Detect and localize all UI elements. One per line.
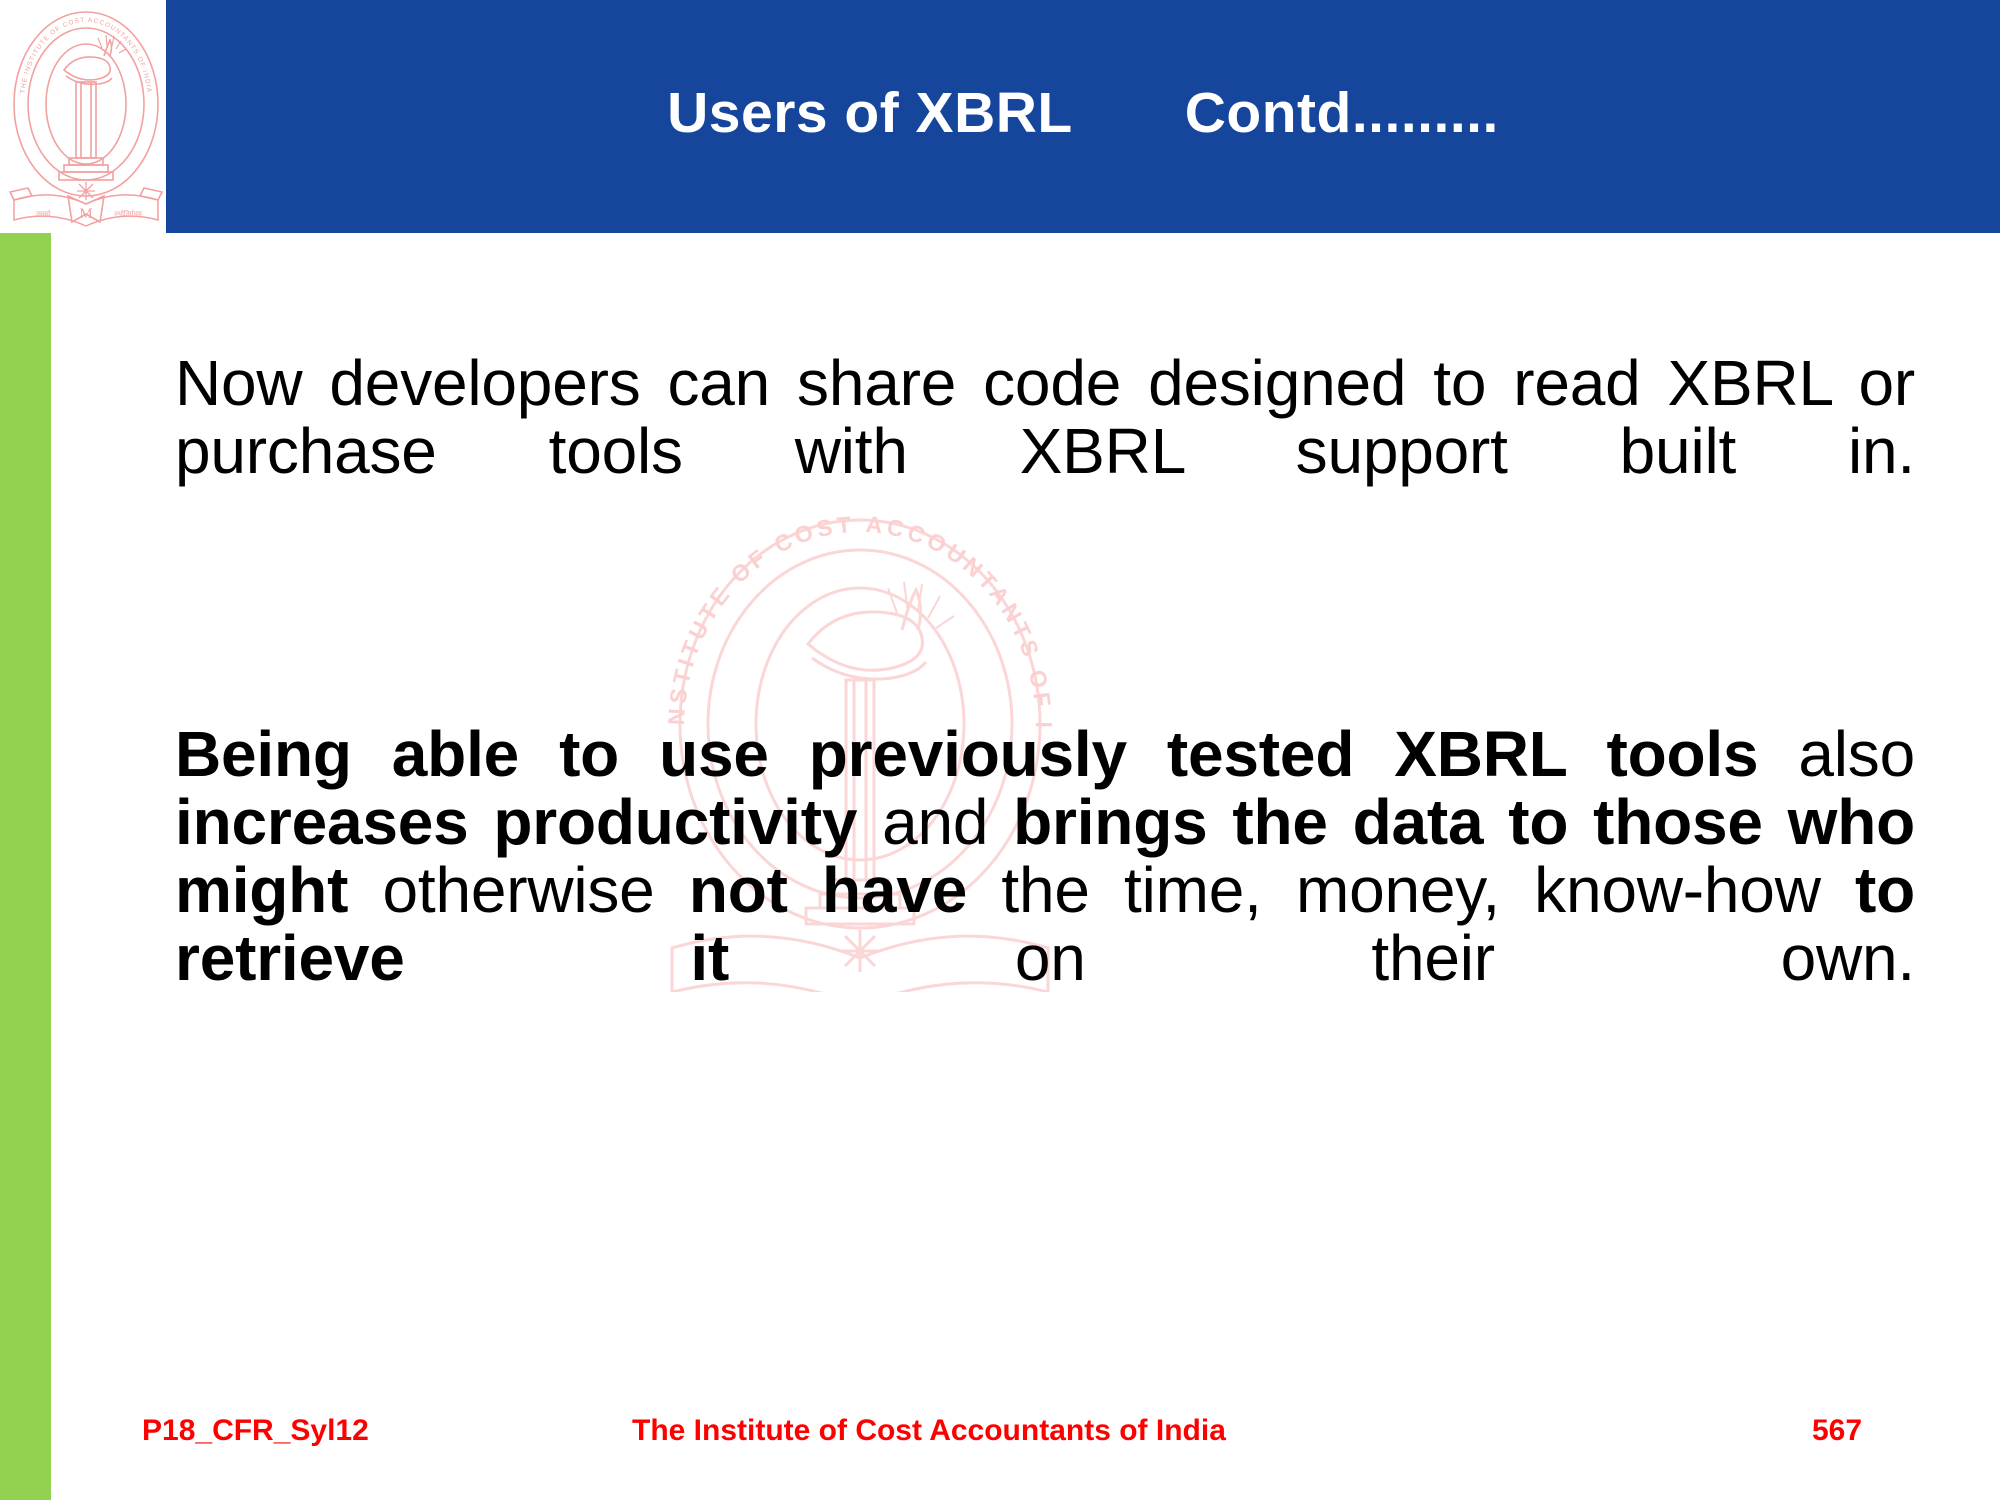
body-run-2: increases productivity (175, 786, 882, 858)
svg-text:M: M (79, 206, 92, 222)
svg-text:ज्योतिर्गमय: ज्योतिर्गमय (114, 209, 143, 218)
slide-header-bar: Users of XBRL Contd......... (166, 0, 2000, 233)
footer-institute-name: The Institute of Cost Accountants of Ind… (632, 1414, 1226, 1448)
institute-emblem-icon: M THE INSTITUTE OF COST ACCOUNTANTS OF I… (6, 4, 166, 232)
left-accent-bar (0, 233, 51, 1500)
footer-page-number: 567 (1812, 1414, 1862, 1448)
slide-body: Now developers can share code designed t… (175, 350, 1915, 1100)
slide-footer: P18_CFR_Syl12 The Institute of Cost Acco… (0, 1400, 2000, 1462)
body-run-9: on their own. (1015, 922, 1915, 994)
body-paragraph-2: Being able to use previously tested XBRL… (175, 721, 1915, 1060)
page-title-main: Users of XBRL (667, 80, 1073, 146)
svg-text:तमसो: तमसो (36, 209, 51, 218)
body-run-1: also (1798, 718, 1915, 790)
body-run-6: not have (689, 854, 1002, 926)
body-run-3: and (882, 786, 1013, 858)
footer-subject-code: P18_CFR_Syl12 (142, 1414, 369, 1448)
body-paragraph-1: Now developers can share code designed t… (175, 350, 1915, 553)
page-title-continued: Contd......... (1185, 80, 1499, 146)
body-run-0: Being able to use previously tested XBRL… (175, 718, 1798, 790)
paragraph-spacer (175, 553, 1915, 721)
slide-title: Users of XBRL Contd......... (166, 0, 2000, 233)
body-run-5: otherwise (382, 854, 688, 926)
body-run-7: the time, money, know-how (1001, 854, 1855, 926)
slide-canvas: M THE INSTITUTE OF COST ACCOUNTANTS OF I… (0, 0, 2000, 1500)
